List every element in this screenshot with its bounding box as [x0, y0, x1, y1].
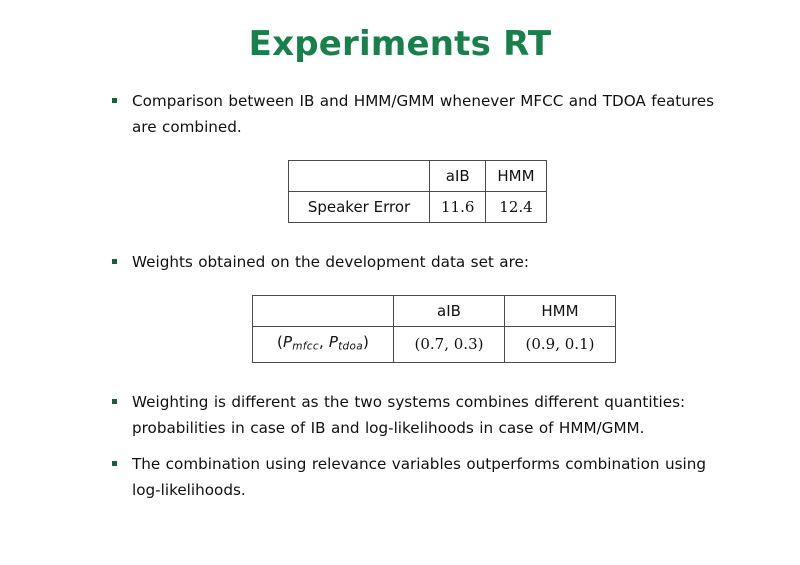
bullet-item-weights: Weights obtained on the development data…: [112, 249, 752, 275]
slide-body: Comparison between IB and HMM/GMM whenev…: [112, 88, 752, 503]
bullet-text-combination: The combination using relevance variable…: [132, 451, 732, 503]
math-subscript-mfcc: mfcc: [292, 341, 319, 353]
speaker-error-table-wrapper: aIB HMM Speaker Error 11.6 12.4: [288, 160, 752, 223]
math-subscript-tdoa: tdoa: [338, 341, 363, 353]
table-header-aib: aIB: [394, 296, 505, 327]
bullet-item-combination: The combination using relevance variable…: [112, 451, 752, 503]
table-cell-hmm-weights: (0.9, 0.1): [505, 327, 616, 363]
table-header-aib: aIB: [430, 161, 486, 192]
table-cell-aib-weights: (0.7, 0.3): [394, 327, 505, 363]
table-cell-aib-value: 11.6: [430, 192, 486, 223]
bullet-text-weights: Weights obtained on the development data…: [132, 249, 732, 275]
spacer: [112, 441, 752, 451]
spacer: [112, 363, 752, 389]
table-row: Speaker Error 11.6 12.4: [289, 192, 547, 223]
math-comma: ,: [319, 333, 329, 351]
bullet-item-weighting: Weighting is different as the two system…: [112, 389, 752, 441]
math-close-paren: ): [363, 333, 369, 351]
table-cell-row-label: Speaker Error: [289, 192, 430, 223]
spacer: [112, 140, 752, 160]
weights-table: aIB HMM (Pmfcc, Ptdoa) (0.7, 0.3) (0.9, …: [252, 295, 616, 363]
table-row-header: aIB HMM: [253, 296, 616, 327]
table-cell-probability-pair-label: (Pmfcc, Ptdoa): [253, 327, 394, 363]
table-header-blank: [289, 161, 430, 192]
math-var-p-tdoa: P: [329, 333, 338, 351]
bullet-marker-icon: [112, 389, 132, 404]
spacer: [112, 275, 752, 295]
weights-table-wrapper: aIB HMM (Pmfcc, Ptdoa) (0.7, 0.3) (0.9, …: [252, 295, 752, 363]
table-header-hmm: HMM: [486, 161, 546, 192]
table-row: (Pmfcc, Ptdoa) (0.7, 0.3) (0.9, 0.1): [253, 327, 616, 363]
speaker-error-table: aIB HMM Speaker Error 11.6 12.4: [288, 160, 547, 223]
bullet-marker-icon: [112, 451, 132, 466]
math-var-p-mfcc: P: [283, 333, 292, 351]
page-title: Experiments RT: [0, 26, 800, 63]
table-header-hmm: HMM: [505, 296, 616, 327]
table-cell-hmm-value: 12.4: [486, 192, 546, 223]
slide-canvas: Experiments RT Comparison between IB and…: [0, 0, 800, 565]
bullet-text-weighting: Weighting is different as the two system…: [132, 389, 732, 441]
bullet-marker-icon: [112, 249, 132, 264]
bullet-marker-icon: [112, 88, 132, 103]
table-row-header: aIB HMM: [289, 161, 547, 192]
bullet-item-comparison: Comparison between IB and HMM/GMM whenev…: [112, 88, 752, 140]
bullet-text-comparison: Comparison between IB and HMM/GMM whenev…: [132, 88, 732, 140]
spacer: [112, 223, 752, 249]
table-header-blank: [253, 296, 394, 327]
